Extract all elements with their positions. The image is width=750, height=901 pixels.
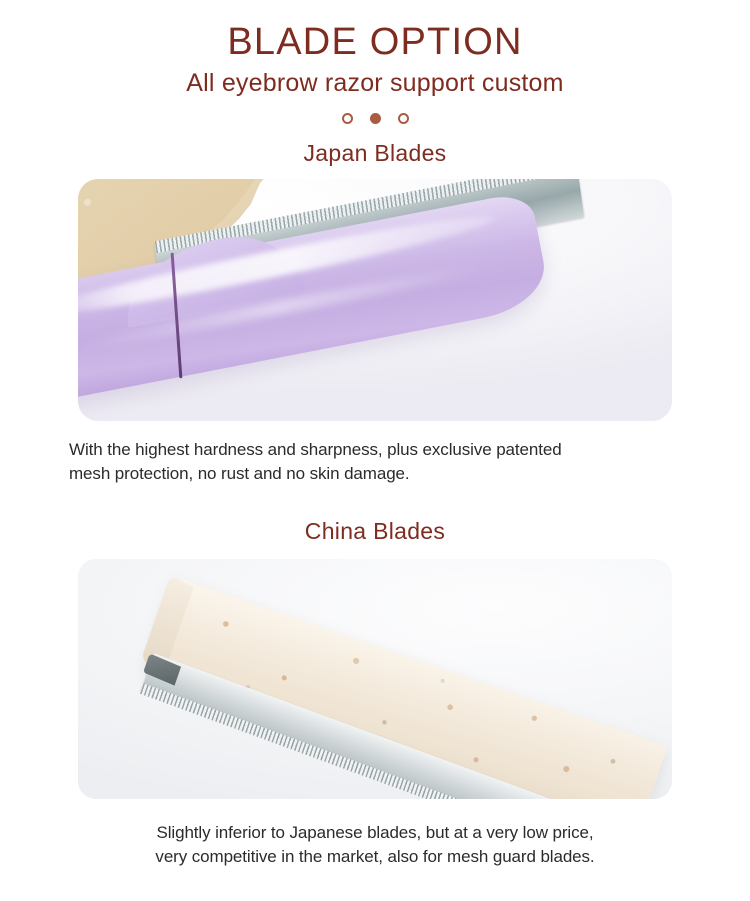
section-china-blades: China Blades Slightly inferior to Japane… (0, 519, 750, 869)
photo-china-blades-canvas (78, 559, 672, 799)
carousel-dot-3[interactable] (398, 113, 409, 124)
carousel-dot-1[interactable] (342, 113, 353, 124)
carousel-dot-2-active[interactable] (370, 113, 381, 124)
photo-japan-blades (78, 179, 672, 421)
page-title: BLADE OPTION (0, 22, 750, 63)
section-japan-blades: Japan Blades With the highest hardness a… (0, 141, 750, 487)
photo-china-blades (78, 559, 672, 799)
section-title-japan-blades: Japan Blades (0, 141, 750, 166)
section-title-china-blades: China Blades (0, 519, 750, 544)
page-subtitle: All eyebrow razor support custom (0, 69, 750, 98)
caption-line: mesh protection, no rust and no skin dam… (69, 462, 681, 486)
caption-china-blades: Slightly inferior to Japanese blades, bu… (69, 821, 681, 869)
caption-line: With the highest hardness and sharpness,… (69, 438, 681, 462)
carousel-dots (0, 111, 750, 127)
blade-option-page: BLADE OPTION All eyebrow razor support c… (0, 0, 750, 901)
caption-line: Slightly inferior to Japanese blades, bu… (69, 821, 681, 845)
page-header: BLADE OPTION All eyebrow razor support c… (0, 0, 750, 98)
caption-line: very competitive in the market, also for… (69, 845, 681, 869)
caption-japan-blades: With the highest hardness and sharpness,… (69, 438, 681, 486)
photo-japan-blades-canvas (78, 179, 672, 421)
